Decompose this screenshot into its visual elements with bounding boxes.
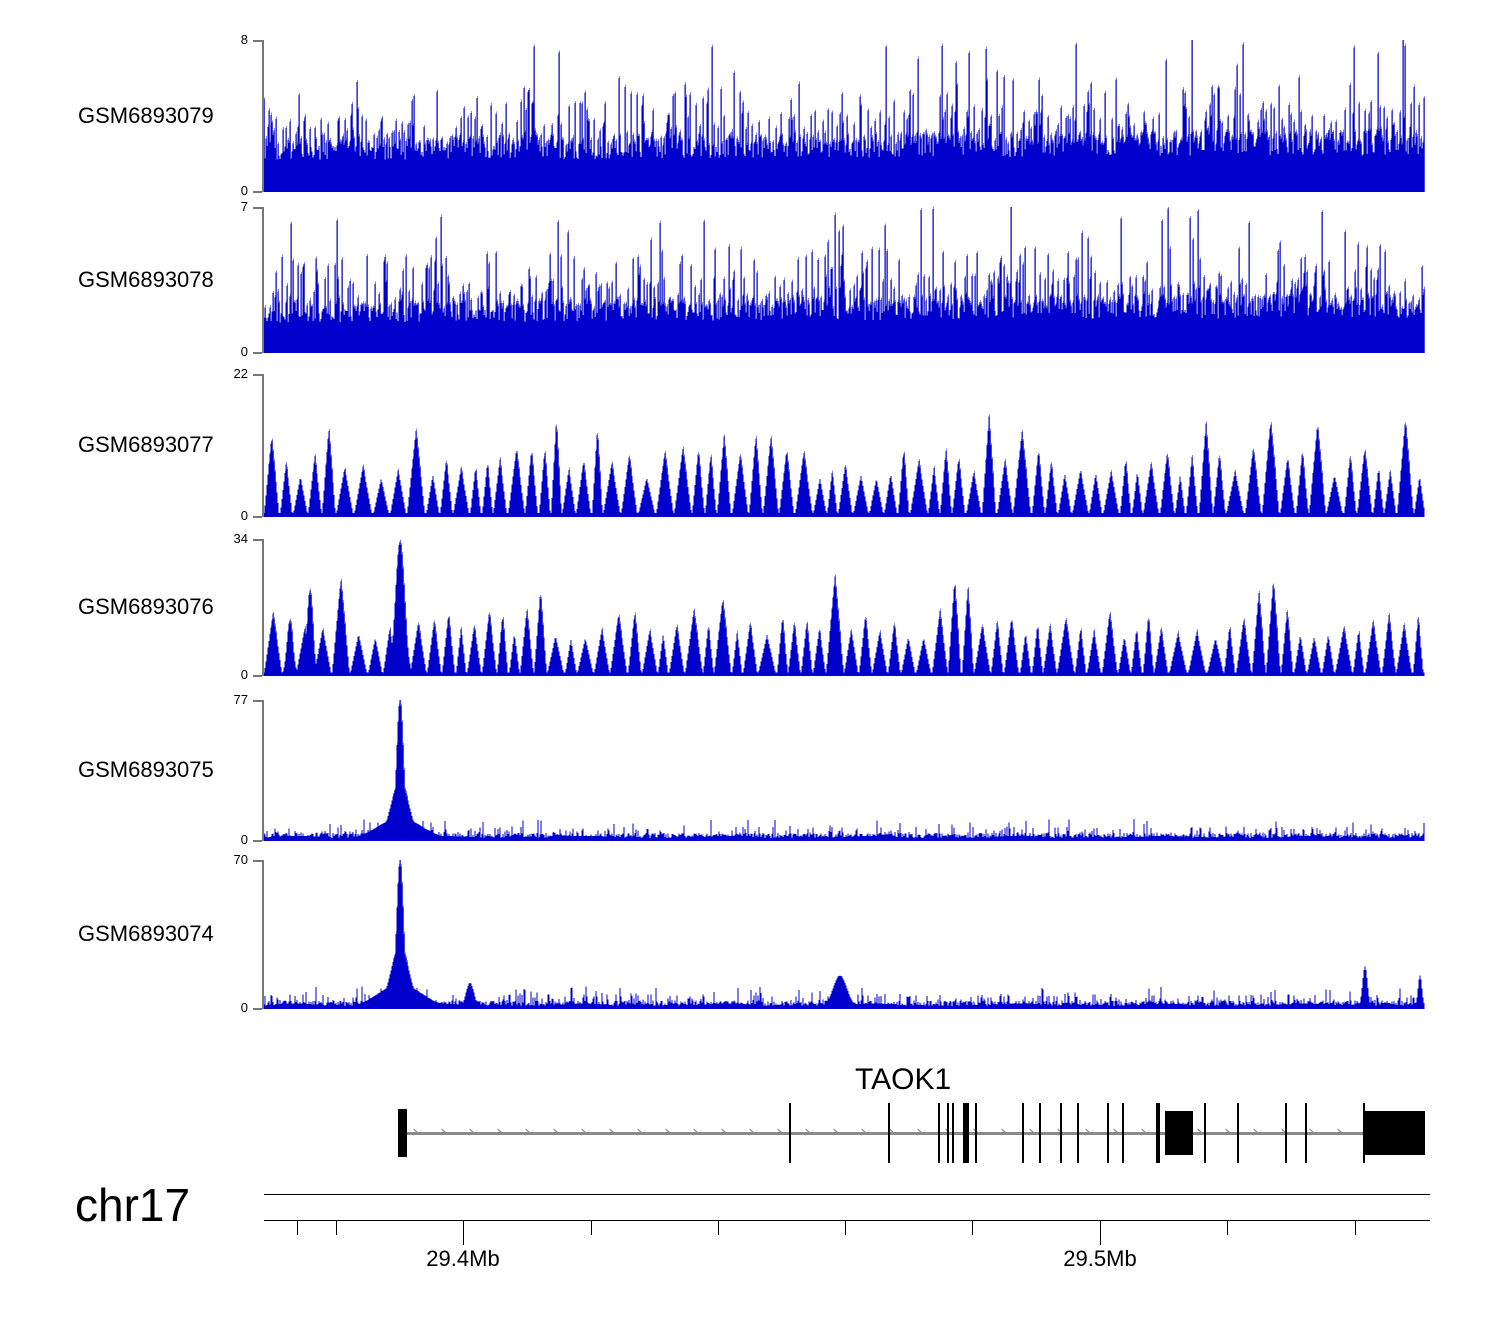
ruler-minor-tick — [845, 1221, 846, 1235]
strand-arrow-icon: › — [412, 1124, 419, 1141]
strand-arrow-icon: › — [1224, 1124, 1231, 1141]
y-axis-tick-max — [253, 207, 262, 209]
exon-tick[interactable] — [1156, 1103, 1160, 1163]
strand-arrow-icon: › — [1000, 1124, 1007, 1141]
signal-plot-area[interactable] — [264, 40, 1425, 192]
y-axis-tick-max — [253, 860, 262, 862]
y-axis-max-value: 22 — [200, 367, 248, 380]
y-axis-min-value: 0 — [200, 1001, 248, 1014]
exon-tick[interactable] — [1305, 1103, 1307, 1163]
y-axis-tick-min — [253, 191, 262, 193]
y-axis-tick-min — [253, 352, 262, 354]
y-axis-max-value: 70 — [200, 853, 248, 866]
exon-tick[interactable] — [1285, 1103, 1287, 1163]
exon-tick[interactable] — [1237, 1103, 1239, 1163]
strand-arrow-icon: › — [720, 1124, 727, 1141]
track-label-gsm6893075[interactable]: GSM6893075 — [78, 759, 214, 781]
ruler-bottom-line — [264, 1220, 1430, 1221]
y-axis-max-value: 77 — [200, 693, 248, 706]
genomic-axis-ruler: chr17 29.4Mb29.5Mb — [0, 1190, 1500, 1300]
ruler-minor-tick — [972, 1221, 973, 1235]
signal-plot-area[interactable] — [264, 207, 1425, 353]
strand-arrow-icon: › — [440, 1124, 447, 1141]
exon-tick[interactable] — [1077, 1103, 1079, 1163]
y-axis-tick-max — [253, 374, 262, 376]
ruler-minor-tick — [591, 1221, 592, 1235]
exon-coding-mid[interactable] — [1165, 1111, 1193, 1155]
strand-arrow-icon: › — [748, 1124, 755, 1141]
y-axis-tick-min — [253, 516, 262, 518]
strand-arrow-icon: › — [468, 1124, 475, 1141]
exon-tick[interactable] — [1107, 1103, 1109, 1163]
ruler-minor-tick — [718, 1221, 719, 1235]
exon-tick[interactable] — [789, 1103, 791, 1163]
strand-arrow-icon: › — [832, 1124, 839, 1141]
strand-arrow-icon: › — [580, 1124, 587, 1141]
ruler-major-tick — [463, 1221, 464, 1245]
gene-label-taok1[interactable]: TAOK1 — [855, 1065, 951, 1095]
exon-terminal[interactable] — [1363, 1111, 1425, 1155]
strand-arrow-icon: › — [776, 1124, 783, 1141]
exon-tick[interactable] — [967, 1103, 969, 1163]
signal-plot-area[interactable] — [264, 374, 1425, 517]
strand-arrow-icon: › — [664, 1124, 671, 1141]
ruler-minor-tick — [336, 1221, 337, 1235]
exon-tick[interactable] — [1022, 1103, 1024, 1163]
y-axis-min-value: 0 — [200, 345, 248, 358]
y-axis-max-value: 7 — [200, 200, 248, 213]
signal-plot-area[interactable] — [264, 539, 1425, 676]
y-axis-min-value: 0 — [200, 668, 248, 681]
track-label-gsm6893076[interactable]: GSM6893076 — [78, 596, 214, 618]
strand-arrow-icon: › — [1084, 1124, 1091, 1141]
strand-arrow-icon: › — [636, 1124, 643, 1141]
ruler-top-line — [264, 1194, 1430, 1195]
y-axis-tick-max — [253, 700, 262, 702]
strand-arrow-icon: › — [552, 1124, 559, 1141]
y-axis-tick-max — [253, 40, 262, 42]
y-axis-tick-min — [253, 1008, 262, 1010]
strand-arrow-icon: › — [1028, 1124, 1035, 1141]
strand-arrow-icon: › — [608, 1124, 615, 1141]
y-axis-tick-min — [253, 675, 262, 677]
exon-tick[interactable] — [1204, 1103, 1206, 1163]
exon-first[interactable] — [398, 1109, 407, 1157]
y-axis-tick-max — [253, 539, 262, 541]
strand-arrow-icon: › — [524, 1124, 531, 1141]
strand-arrow-icon: › — [860, 1124, 867, 1141]
exon-tick[interactable] — [938, 1103, 940, 1163]
exon-tick[interactable] — [1060, 1103, 1062, 1163]
ruler-major-tick — [1100, 1221, 1101, 1245]
signal-plot-area[interactable] — [264, 700, 1425, 841]
ruler-coordinate-label: 29.5Mb — [1020, 1248, 1180, 1270]
track-label-gsm6893078[interactable]: GSM6893078 — [78, 269, 214, 291]
exon-tick[interactable] — [1122, 1103, 1124, 1163]
strand-arrow-icon: › — [496, 1124, 503, 1141]
y-axis-min-value: 0 — [200, 509, 248, 522]
ruler-minor-tick — [1227, 1221, 1228, 1235]
y-axis-min-value: 0 — [200, 833, 248, 846]
strand-arrow-icon: › — [1140, 1124, 1147, 1141]
exon-tick[interactable] — [952, 1103, 954, 1163]
strand-arrow-icon: › — [692, 1124, 699, 1141]
strand-arrow-icon: › — [1112, 1124, 1119, 1141]
exon-tick[interactable] — [888, 1103, 890, 1163]
y-axis-min-value: 0 — [200, 184, 248, 197]
genome-browser-view: GSM689307980GSM689307870GSM6893077220GSM… — [0, 0, 1500, 1320]
exon-tick[interactable] — [1039, 1103, 1041, 1163]
gene-model-panel: TAOK1 ››››››››››››››››››››››››››››››››››… — [0, 1055, 1500, 1200]
y-axis-tick-min — [253, 840, 262, 842]
y-axis-max-value: 8 — [200, 33, 248, 46]
ruler-minor-tick — [1355, 1221, 1356, 1235]
strand-arrow-icon: › — [1336, 1124, 1343, 1141]
signal-plot-area[interactable] — [264, 860, 1425, 1009]
strand-arrow-icon: › — [1308, 1124, 1315, 1141]
strand-arrow-icon: › — [1252, 1124, 1259, 1141]
exon-tick[interactable] — [975, 1103, 977, 1163]
track-label-gsm6893074[interactable]: GSM6893074 — [78, 923, 214, 945]
track-label-gsm6893079[interactable]: GSM6893079 — [78, 105, 214, 127]
exon-tick[interactable] — [947, 1103, 949, 1163]
ruler-coordinate-label: 29.4Mb — [383, 1248, 543, 1270]
strand-arrow-icon: › — [916, 1124, 923, 1141]
ruler-minor-tick — [297, 1221, 298, 1235]
track-label-gsm6893077[interactable]: GSM6893077 — [78, 434, 214, 456]
strand-arrow-icon: › — [1196, 1124, 1203, 1141]
chromosome-label: chr17 — [75, 1182, 190, 1228]
y-axis-max-value: 34 — [200, 532, 248, 545]
strand-arrow-icon: › — [804, 1124, 811, 1141]
